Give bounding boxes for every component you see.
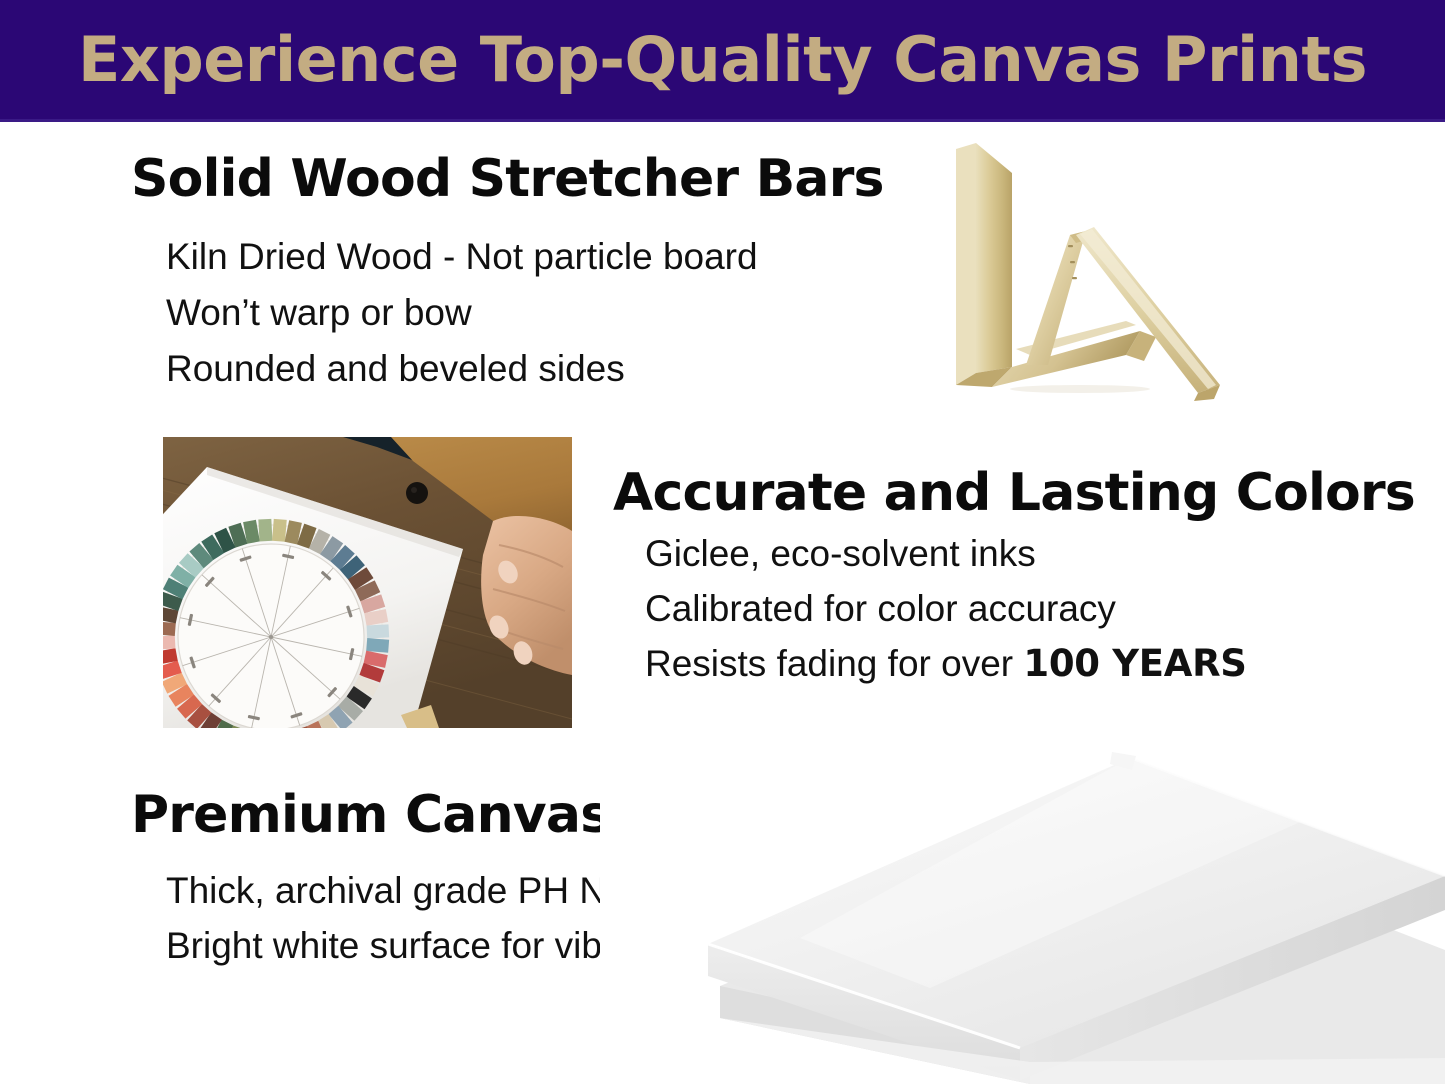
feature-line-wont-warp: Won’t warp or bow	[166, 294, 472, 331]
feature-line-rounded-beveled: Rounded and beveled sides	[166, 350, 625, 387]
feature-line-giclee-inks: Giclee, eco-solvent inks	[645, 535, 1036, 572]
feature-line-calibrated-accuracy: Calibrated for color accuracy	[645, 590, 1116, 627]
color-wheel-chart-photo	[163, 437, 572, 728]
section-heading-accurate-colors: Accurate and Lasting Colors	[613, 466, 1415, 521]
resists-fading-emphasis: 100 YEARS	[1023, 642, 1246, 685]
page-title: Experience Top-Quality Canvas Prints	[78, 29, 1367, 91]
section-heading-premium-canvases: Premium Canvases	[131, 788, 675, 843]
wood-stretcher-bars-photo	[930, 135, 1230, 407]
infographic-page: Experience Top-Quality Canvas Prints Sol…	[0, 0, 1445, 1084]
blank-white-canvas-photo	[600, 718, 1445, 1084]
resists-fading-prefix: Resists fading for over	[645, 643, 1023, 684]
feature-line-resists-fading: Resists fading for over 100 YEARS	[645, 645, 1247, 682]
header-banner: Experience Top-Quality Canvas Prints	[0, 0, 1445, 122]
feature-line-kiln-dried-wood: Kiln Dried Wood - Not particle board	[166, 238, 758, 275]
section-heading-stretcher-bars: Solid Wood Stretcher Bars	[131, 152, 884, 207]
